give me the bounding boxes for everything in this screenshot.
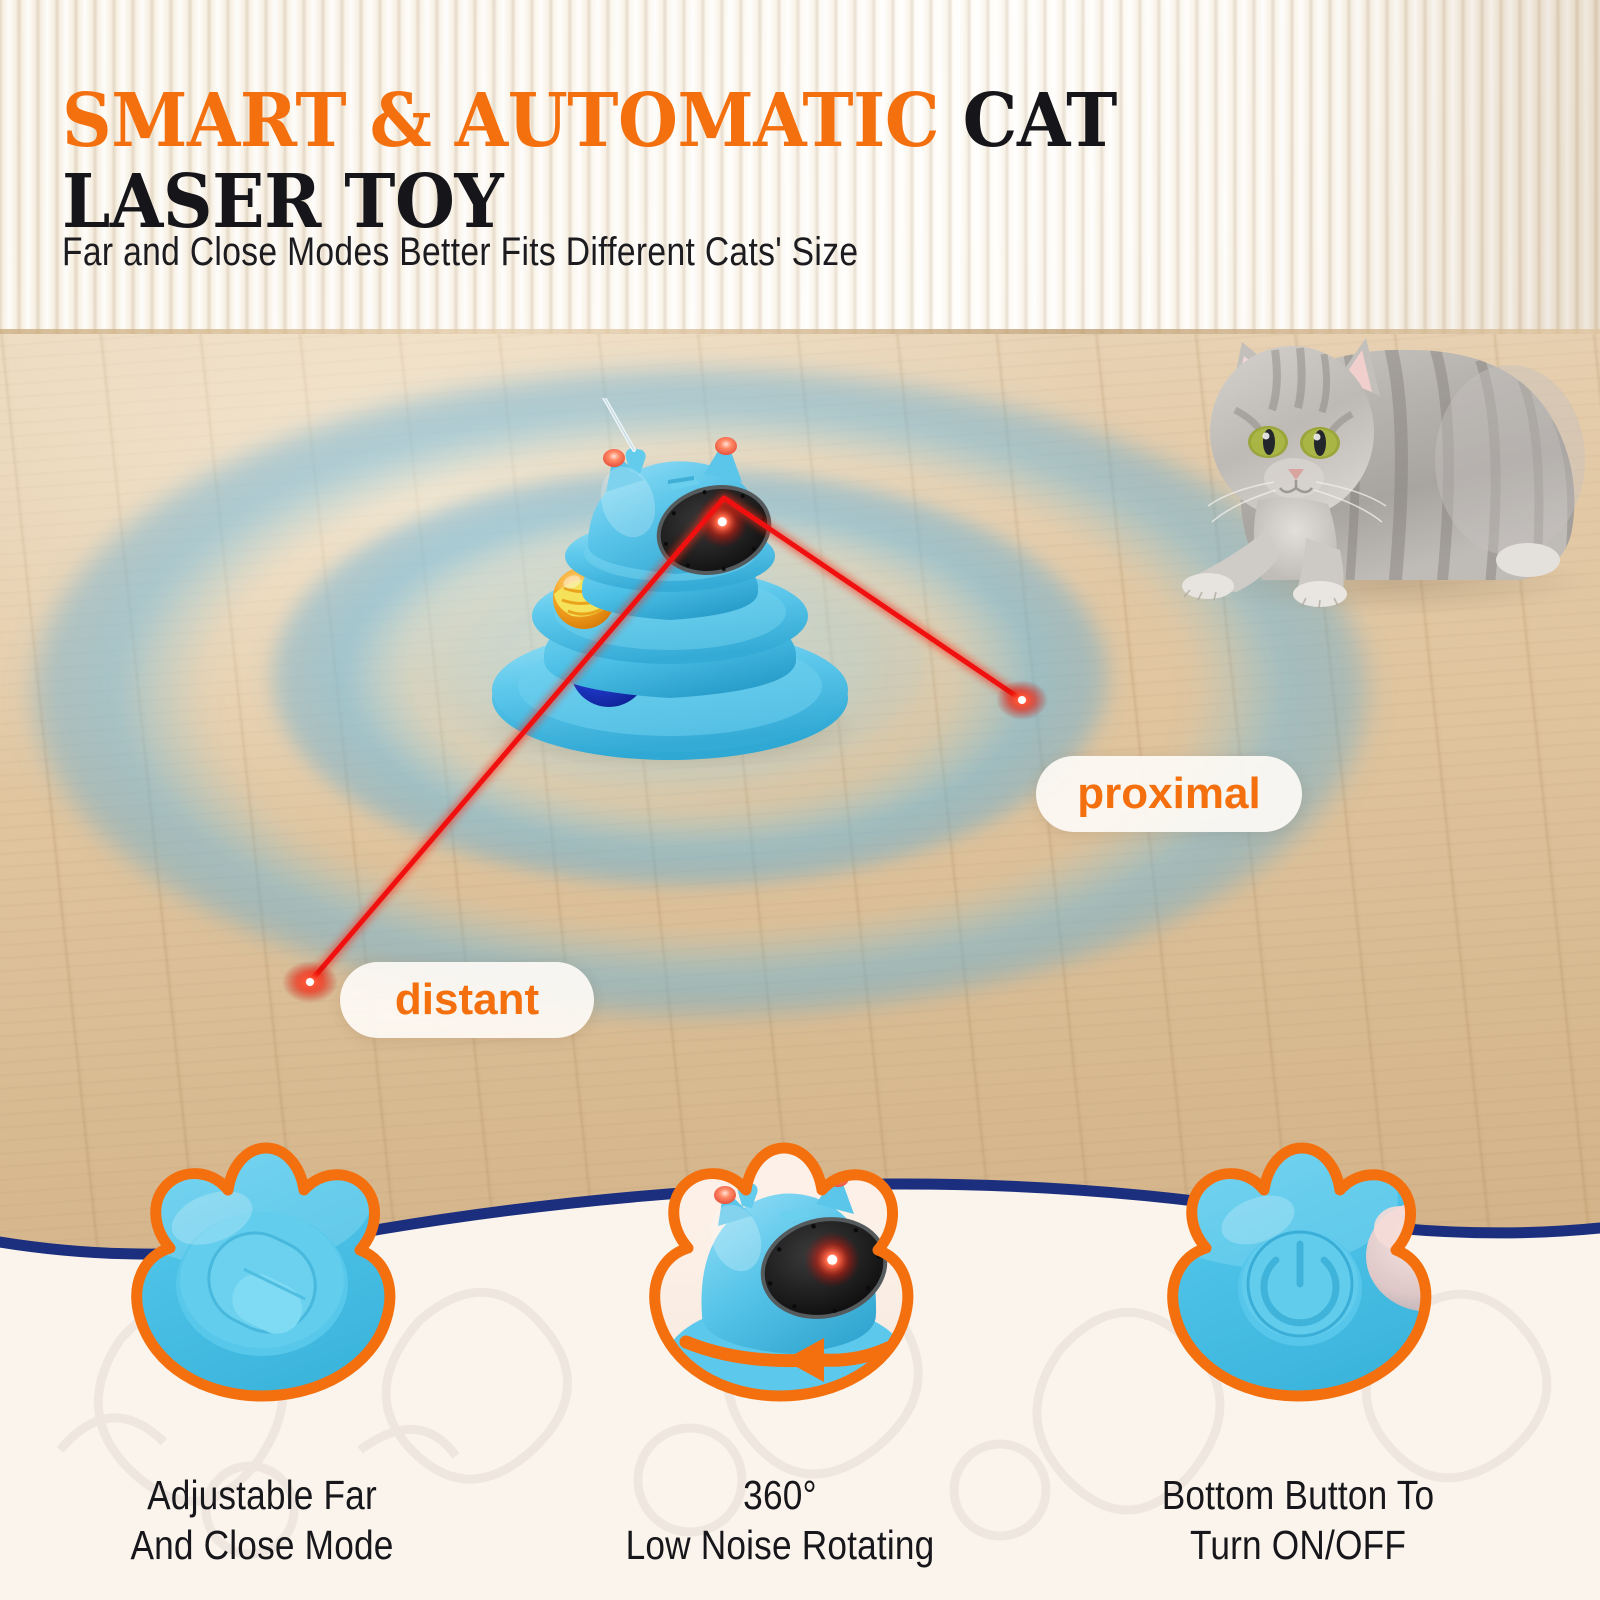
cat-photograph (1090, 250, 1600, 620)
feature-badge-360-rotation: Pawtners (610, 1078, 950, 1418)
label-distant-text: distant (395, 975, 539, 1025)
feature-badge-adjustable-mode (92, 1078, 432, 1418)
page-title: SMART & AUTOMATIC CAT LASER TOY (62, 86, 1271, 238)
feature-caption-3: Bottom Button To Turn ON/OFF (1078, 1470, 1518, 1570)
feature-caption-3-line1: Bottom Button To (1109, 1470, 1487, 1520)
feature-caption-2-line1: 360° (591, 1470, 969, 1520)
label-proximal-text: proximal (1077, 769, 1260, 819)
feature-badge-power-button (1128, 1078, 1468, 1418)
page-title-line2: LASER TOY (62, 167, 1271, 238)
label-distant: distant (340, 962, 594, 1038)
label-proximal: proximal (1036, 756, 1302, 832)
product-infographic: Pawtners (0, 0, 1600, 1600)
page-subtitle: Far and Close Modes Better Fits Differen… (62, 230, 858, 275)
page-title-black: CAT (963, 78, 1117, 164)
feature-caption-1: Adjustable Far And Close Mode (42, 1470, 482, 1570)
feature-caption-1-line2: And Close Mode (73, 1520, 451, 1570)
feature-caption-2-line2: Low Noise Rotating (591, 1520, 969, 1570)
feature-caption-3-line2: Turn ON/OFF (1109, 1520, 1487, 1570)
feature-caption-1-line1: Adjustable Far (73, 1470, 451, 1520)
feature-caption-2: 360° Low Noise Rotating (560, 1470, 1000, 1570)
page-title-orange: SMART & AUTOMATIC (62, 78, 939, 164)
cat-laser-toy-product: Pawtners (432, 398, 902, 788)
